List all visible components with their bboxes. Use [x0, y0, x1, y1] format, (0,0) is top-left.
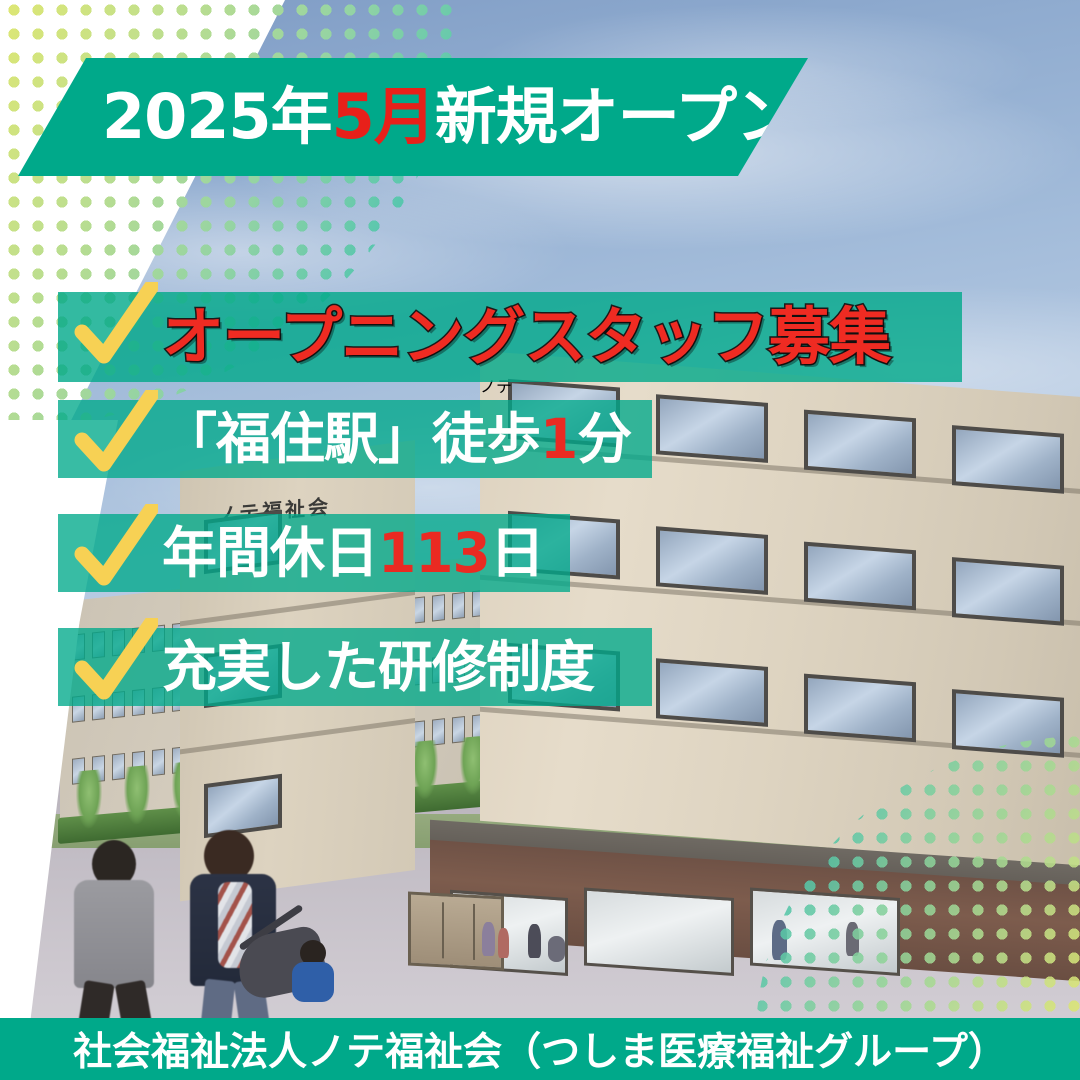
- hero-band: オープニングスタッフ募集: [58, 292, 962, 382]
- check-icon: [74, 282, 158, 374]
- bullet-text-highlight: 1: [540, 407, 577, 471]
- bullet-band: 年間休日113日: [58, 514, 570, 592]
- pedestrian-walking: [58, 840, 168, 1040]
- background-person: [498, 928, 509, 958]
- organization-name-text: 社会福祉法人ノテ福祉会（つしま医療福祉グループ）: [73, 1021, 1007, 1077]
- banner-open-text: 新規オープン: [435, 80, 797, 153]
- ground-floor-window-b: [584, 888, 734, 976]
- background-wheelchair: [548, 936, 565, 962]
- station-access-text: 「福住駅」徒歩1分: [162, 412, 657, 467]
- organization-name-bar: 社会福祉法人ノテ福祉会（つしま医療福祉グループ）: [0, 1018, 1080, 1080]
- bullet-text-part: 年間休日: [162, 521, 378, 585]
- bullet-text-part: 分: [577, 407, 631, 471]
- check-icon: [74, 504, 158, 596]
- bullet-text-part: 「福住駅」徒歩: [162, 407, 540, 471]
- annual-holidays-row: 年間休日113日: [58, 514, 570, 592]
- background-person: [482, 922, 495, 956]
- bullet-text-part: 充実した研修制度: [162, 635, 594, 699]
- training-program-text: 充実した研修制度: [162, 640, 620, 695]
- banner-year-text: 2025年: [102, 80, 332, 153]
- bullet-band: 「福住駅」徒歩1分: [58, 400, 652, 478]
- station-access-row: 「福住駅」徒歩1分: [58, 400, 652, 478]
- bullet-text-part: 日: [490, 521, 544, 585]
- background-person: [528, 924, 541, 958]
- opening-announcement-text: 2025年5月新規オープン: [102, 86, 797, 148]
- check-icon: [74, 390, 158, 482]
- hero-text: オープニングスタッフ募集: [162, 306, 914, 368]
- training-program-row: 充実した研修制度: [58, 628, 652, 706]
- banner-month-highlight: 5月: [332, 80, 435, 153]
- check-icon: [74, 618, 158, 710]
- recruitment-poster: ノテ ノテ福祉会: [0, 0, 1080, 1080]
- bullet-text-highlight: 113: [378, 521, 490, 585]
- opening-staff-recruitment-row: オープニングスタッフ募集: [58, 292, 962, 382]
- opening-announcement-banner: 2025年5月新規オープン: [18, 58, 808, 176]
- bullet-band: 充実した研修制度: [58, 628, 652, 706]
- annual-holidays-text: 年間休日113日: [162, 526, 570, 581]
